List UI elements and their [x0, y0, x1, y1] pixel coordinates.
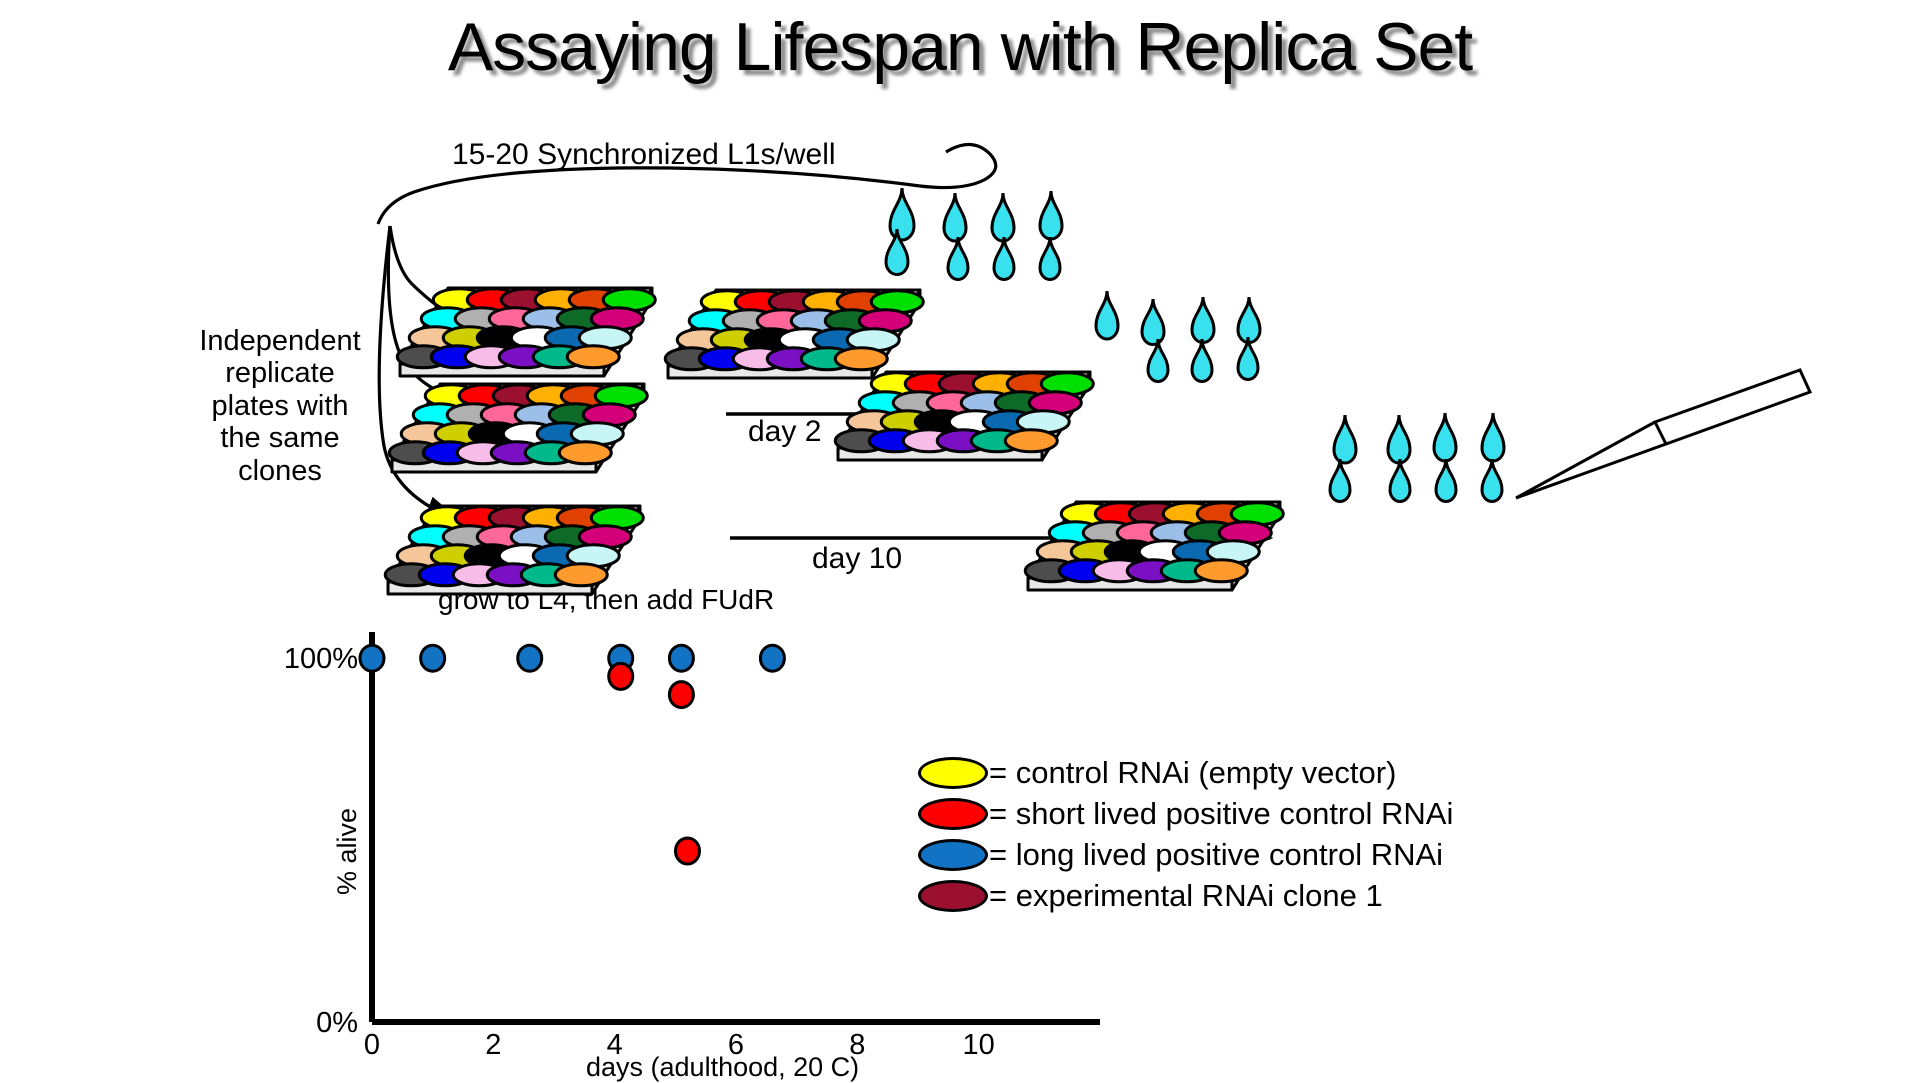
workflow-diagram — [0, 0, 1920, 1080]
droplets-day0 — [886, 188, 1062, 280]
legend-label: = short lived positive control RNAi — [989, 796, 1453, 832]
chart-x-axis-label: days (adulthood, 20 C) — [586, 1052, 859, 1083]
legend-swatch-icon — [918, 880, 988, 912]
legend-label: = experimental RNAi clone 1 — [989, 878, 1383, 914]
plate-well[interactable] — [1005, 430, 1057, 452]
pipette-icon — [1516, 370, 1810, 498]
legend-item-control-rnai[interactable]: = control RNAi (empty vector) — [918, 752, 1453, 793]
plate-day10[interactable] — [1028, 500, 1300, 604]
legend-swatch-icon — [918, 798, 988, 830]
legend-swatch-icon — [918, 839, 988, 871]
plate-well[interactable] — [559, 442, 611, 464]
plate-well[interactable] — [1195, 560, 1247, 582]
plate-well[interactable] — [835, 348, 887, 370]
chart-y-axis-label: % alive — [332, 808, 363, 895]
plate-replicate-3[interactable] — [388, 504, 660, 608]
droplets-day2 — [1096, 291, 1260, 382]
chart-legend: = control RNAi (empty vector)= short liv… — [918, 752, 1453, 916]
plate-day2[interactable] — [838, 370, 1110, 474]
plate-well[interactable] — [555, 564, 607, 586]
legend-label: = control RNAi (empty vector) — [989, 755, 1396, 791]
droplets-day10 — [1330, 413, 1504, 502]
legend-swatch-icon — [918, 757, 988, 789]
plate-replicate-1[interactable] — [400, 286, 672, 390]
legend-item-short-lived-control[interactable]: = short lived positive control RNAi — [918, 793, 1453, 834]
legend-item-experimental-clone-1[interactable]: = experimental RNAi clone 1 — [918, 875, 1453, 916]
legend-label: = long lived positive control RNAi — [989, 837, 1443, 873]
plate-replicate-2[interactable] — [392, 382, 664, 486]
plate-well[interactable] — [567, 346, 619, 368]
legend-item-long-lived-control[interactable]: = long lived positive control RNAi — [918, 834, 1453, 875]
